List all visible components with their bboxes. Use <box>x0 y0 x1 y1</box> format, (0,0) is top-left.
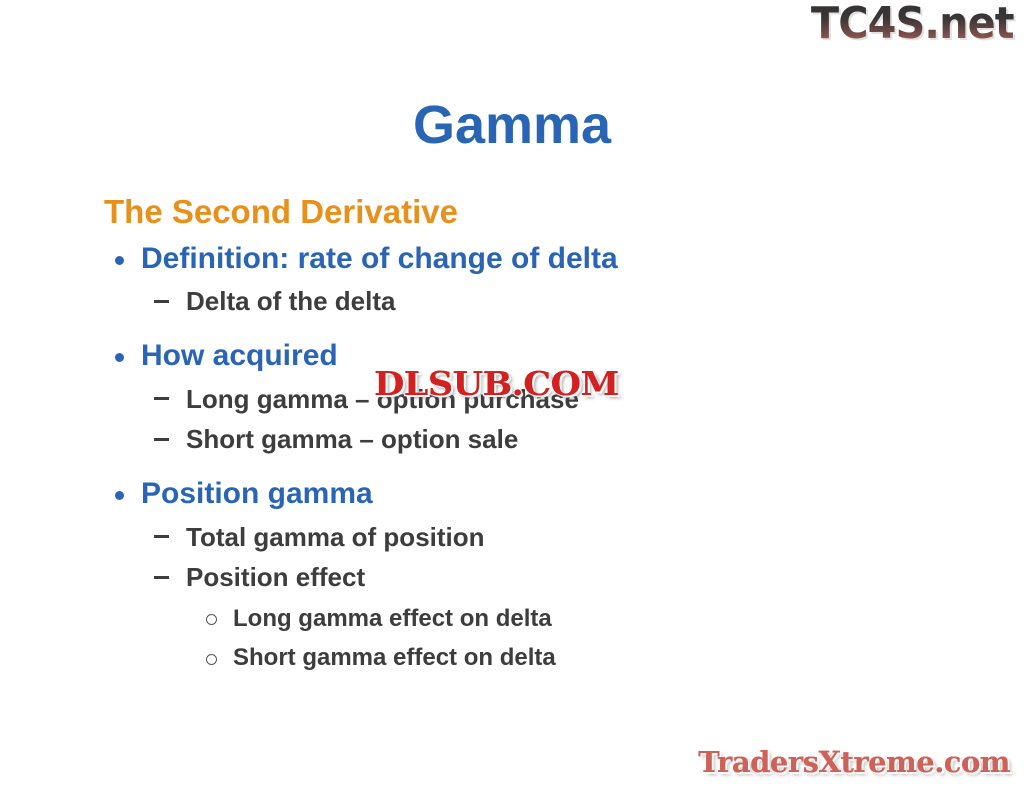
bullet-level1-definition: Definition: rate of change of delta <box>104 240 934 278</box>
bullet-dot-icon <box>115 491 124 500</box>
outline-list: Definition: rate of change of delta Delt… <box>104 240 934 674</box>
bullet-text: Short gamma effect on delta <box>233 644 556 671</box>
bullet-dash-icon <box>154 300 169 303</box>
bullet-circle-icon <box>206 614 217 625</box>
bullet-level3-short-gamma-effect: Short gamma effect on delta <box>104 642 934 673</box>
bullet-text: Definition: rate of change of delta <box>141 242 618 275</box>
page-title: Gamma <box>0 98 1024 152</box>
bullet-level2-position-effect: Position effect <box>104 561 934 595</box>
tradersxtreme-footer-logo: TradersXtreme.com <box>698 747 1010 779</box>
spacer <box>104 319 934 329</box>
bullet-text: How acquired <box>141 339 338 372</box>
bullet-text: Position gamma <box>141 477 373 510</box>
bullet-dash-icon <box>154 438 169 441</box>
tc4s-brand-logo: TC4S.net <box>811 2 1014 46</box>
bullet-dash-icon <box>154 535 169 538</box>
bullet-level3-long-gamma-effect: Long gamma effect on delta <box>104 603 934 634</box>
bullet-dot-icon <box>115 353 124 362</box>
slide-content: The Second Derivative Definition: rate o… <box>104 193 934 673</box>
bullet-dash-icon <box>154 397 169 400</box>
spacer <box>104 457 934 467</box>
bullet-level2-total-gamma: Total gamma of position <box>104 521 934 555</box>
bullet-dash-icon <box>154 576 169 579</box>
bullet-circle-icon <box>206 654 217 665</box>
bullet-dot-icon <box>115 256 124 265</box>
slide-subheading: The Second Derivative <box>104 193 934 232</box>
bullet-text: Total gamma of position <box>186 522 485 552</box>
bullet-text: Short gamma – option sale <box>186 424 518 454</box>
bullet-level2-short-gamma: Short gamma – option sale <box>104 423 934 457</box>
bullet-text: Position effect <box>186 562 365 592</box>
footer-logo-wrap: TradersXtreme.com TradersXtreme.com <box>698 747 1010 783</box>
dlsub-watermark: DLSUB.COM <box>374 367 619 400</box>
bullet-level1-position-gamma: Position gamma <box>104 475 934 513</box>
bullet-text: Long gamma effect on delta <box>233 605 552 632</box>
bullet-text: Delta of the delta <box>186 286 395 316</box>
bullet-level2-delta-of-the-delta: Delta of the delta <box>104 285 934 319</box>
slide-canvas: TC4S.net TC4S.net Gamma The Second Deriv… <box>0 0 1024 791</box>
